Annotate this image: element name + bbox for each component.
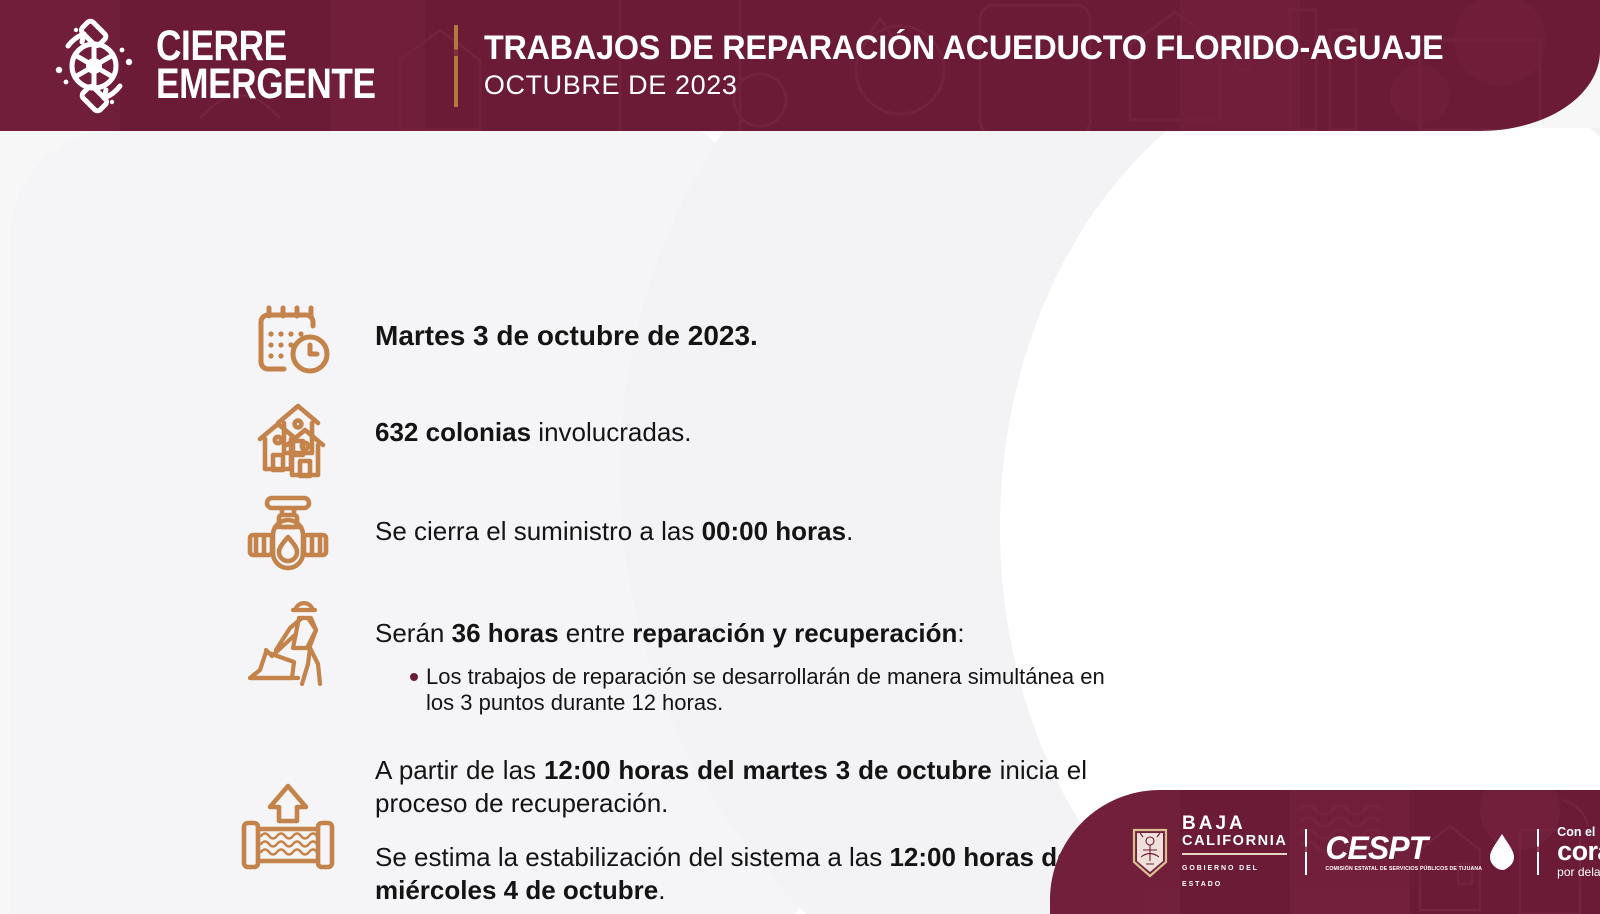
brand-line-2: EMERGENTE [156,66,376,104]
info-row-date: Martes 3 de octubre de 2023. [240,304,758,380]
supply-lead: Se cierra el suministro a las [375,516,702,546]
corazon-line-2: corazón [1557,838,1600,865]
recovery-p2-c: . [658,875,665,905]
water-tank-rising-icon [236,778,340,878]
baja-california-logo: BAJA CALIFORNIA GOBIERNO DEL ESTADO [1130,814,1287,890]
info-row-supply-close-text: Se cierra el suministro a las 00:00 hora… [375,515,853,548]
valve-wheel-icon [46,18,142,114]
header-title-block: TRABAJOS DE REPARACIÓN ACUEDUCTO FLORIDO… [484,31,1494,100]
footer-divider-1 [1305,829,1307,875]
recovery-start-time: 12:00 horas del martes 3 de octubre [544,755,992,785]
info-row-colonias: 632 colonias involucradas. [240,393,692,479]
calendar-clock-icon [240,304,336,380]
baja-california-shield-icon [1130,826,1170,878]
worker-digging-icon [236,598,340,686]
baja-california-wordmark: BAJA CALIFORNIA GOBIERNO DEL ESTADO [1182,814,1287,890]
duration-lead-e: : [957,618,964,648]
date-tail: . [750,320,758,351]
duration-body: Serán 36 horas entre reparación y recupe… [375,618,1175,717]
recovery-paragraph-1: A partir de las 12:00 horas del martes 3… [375,754,1087,820]
duration-lead-a: Serán [375,618,452,648]
list-item: Los trabajos de reparación se desarrolla… [426,664,1156,690]
houses-icon [240,393,336,479]
duration-bullets: Los trabajos de reparación se desarrolla… [426,664,1175,717]
info-row-duration: Serán 36 horas entre reparación y recupe… [236,598,1175,717]
duration-lead: Serán 36 horas entre reparación y recupe… [375,618,1175,649]
bullet-text-line-2: los 3 puntos durante 12 horas. [426,690,723,715]
cespt-logo: CESPT COMISIÓN ESTATAL DE SERVICIOS PÚBL… [1325,832,1519,872]
list-item-continuation: los 3 puntos durante 12 horas. [426,690,1156,716]
recovery-p1-a: A partir de las [375,755,544,785]
footer-divider-2 [1537,829,1539,875]
footer-content: BAJA CALIFORNIA GOBIERNO DEL ESTADO CESP… [1050,790,1600,914]
infographic-poster: CIERRE EMERGENTE TRABAJOS DE REPARACIÓN … [0,0,1600,914]
page-title: TRABAJOS DE REPARACIÓN ACUEDUCTO FLORIDO… [484,31,1444,67]
info-row-supply-close: Se cierra el suministro a las 00:00 hora… [240,493,853,573]
brand-lockup: CIERRE EMERGENTE [46,18,424,114]
cespt-wordmark: CESPT COMISIÓN ESTATAL DE SERVICIOS PÚBL… [1325,832,1482,872]
con-el-corazon-logo: Con el corazón por delante. [1557,826,1600,879]
baja-line-1: BAJA [1182,813,1246,834]
cespt-name: CESPT [1325,832,1482,864]
brand-wordmark: CIERRE EMERGENTE [156,28,376,104]
corazon-line-3: por delante. [1557,866,1600,878]
supply-tail: . [846,516,853,546]
info-row-colonias-text: 632 colonias involucradas. [375,416,692,449]
colonias-count: 632 colonias [375,417,531,447]
colonias-tail: involucradas. [531,417,691,447]
recovery-body: A partir de las 12:00 horas del martes 3… [375,754,1087,907]
bullet-text-line-1: Los trabajos de reparación se desarrolla… [426,664,1105,689]
header-band: CIERRE EMERGENTE TRABAJOS DE REPARACIÓN … [0,0,1600,131]
header-content: CIERRE EMERGENTE TRABAJOS DE REPARACIÓN … [0,0,1600,131]
baja-rule [1182,853,1287,855]
date-value: Martes 3 de octubre de 2023 [375,320,750,351]
footer-bar: BAJA CALIFORNIA GOBIERNO DEL ESTADO CESP… [1050,790,1600,914]
bullet-dot-icon [410,673,418,681]
duration-phases: reparación y recuperación [632,618,957,648]
info-row-date-text: Martes 3 de octubre de 2023. [375,318,758,354]
duration-hours: 36 horas [452,618,559,648]
recovery-paragraph-2: Se estima la estabilización del sistema … [375,841,1087,907]
baja-line-3: GOBIERNO DEL ESTADO [1182,865,1259,888]
recovery-p2-a: Se estima la estabilización del sistema … [375,842,889,872]
page-subtitle: OCTUBRE DE 2023 [484,71,1494,101]
info-row-recovery: A partir de las 12:00 horas del martes 3… [236,754,1087,907]
pipe-valve-icon [240,493,336,573]
supply-time: 00:00 horas [702,516,847,546]
water-drop-icon [1485,832,1519,872]
header-divider [454,25,458,107]
duration-lead-c: entre [559,618,633,648]
baja-line-2: CALIFORNIA [1182,833,1287,849]
cespt-tagline: COMISIÓN ESTATAL DE SERVICIOS PÚBLICOS D… [1325,866,1482,872]
